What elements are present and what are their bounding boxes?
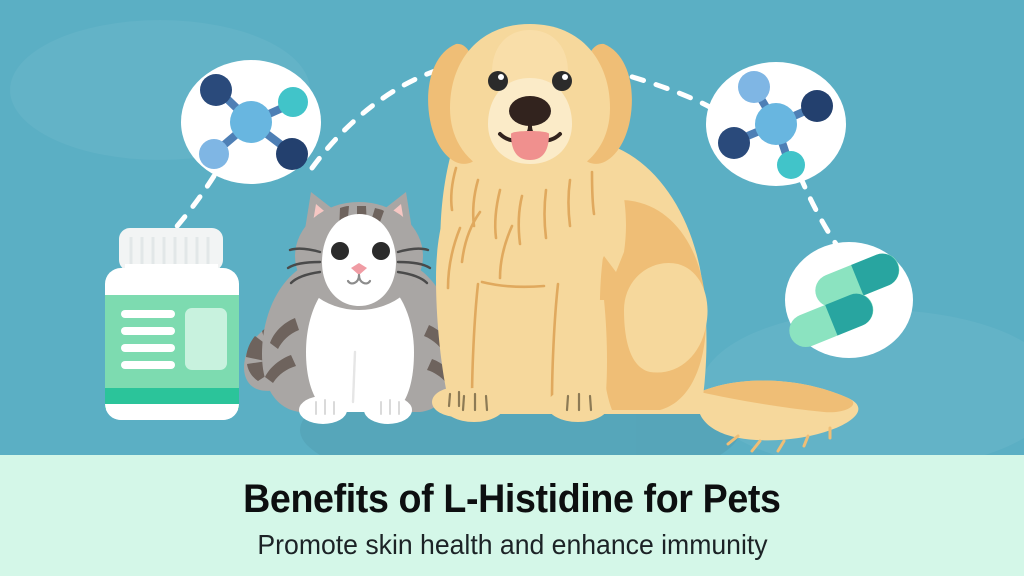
capsule-badge <box>784 242 913 358</box>
molecule-node-3 <box>199 139 229 169</box>
molecule-node-1 <box>738 71 770 103</box>
dog-eye-left-glint <box>498 74 504 80</box>
molecule-node-3 <box>718 127 750 159</box>
molecule-node-center <box>755 103 797 145</box>
dog-eye-left <box>488 71 508 91</box>
pill-bottle <box>105 228 239 420</box>
dog-eye-right-glint <box>562 74 568 80</box>
page-title: Benefits of L-Histidine for Pets <box>243 479 780 520</box>
cat-eye-left <box>331 242 349 260</box>
molecule-node-center <box>230 101 272 143</box>
molecule-node-4 <box>276 138 308 170</box>
molecule-node-2 <box>801 90 833 122</box>
dog-nose <box>509 96 551 126</box>
molecule-badge-right <box>706 62 846 186</box>
molecule-node-4 <box>777 151 805 179</box>
cat-paw-left <box>299 396 347 424</box>
cat-eye-right <box>372 242 390 260</box>
cat-face-mask <box>322 214 396 306</box>
bottle-label-panel <box>185 308 227 370</box>
page-subtitle: Promote skin health and enhance immunity <box>257 530 767 561</box>
molecule-node-1 <box>200 74 232 106</box>
title-banner: Benefits of L-Histidine for Pets Promote… <box>0 455 1024 576</box>
molecule-badge-left <box>181 60 321 184</box>
molecule-node-2 <box>278 87 308 117</box>
dog-eye-right <box>552 71 572 91</box>
bottle-base-shadow <box>105 404 239 420</box>
cat-paw-right <box>364 396 412 424</box>
poster-canvas: Benefits of L-Histidine for Pets Promote… <box>0 0 1024 576</box>
